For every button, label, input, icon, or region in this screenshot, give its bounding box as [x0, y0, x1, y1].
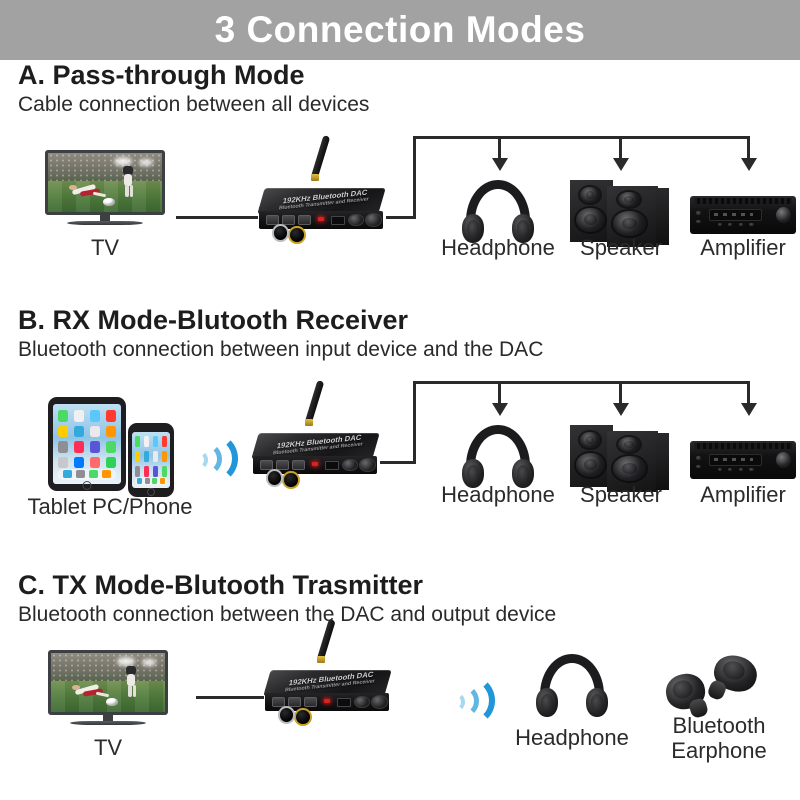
amplifier-button[interactable]: [718, 468, 722, 471]
tablet-home-button[interactable]: [83, 481, 92, 490]
tv-stand-neck: [103, 715, 113, 721]
tv-stand-neck: [100, 215, 110, 221]
amplifier-button[interactable]: [728, 223, 732, 226]
tablet-app-grid: [58, 410, 116, 468]
section-tx-mode: C. TX Mode-Blutooth Trasmitter Bluetooth…: [0, 570, 800, 800]
headphone-earcup-right: [586, 688, 609, 717]
arrow-down-icon: [741, 403, 757, 416]
dac-knob-left[interactable]: [348, 214, 364, 227]
page-title: 3 Connection Modes: [215, 9, 586, 51]
tablet-dock: [58, 469, 116, 480]
section-a-heading: A. Pass-through Mode: [18, 60, 305, 91]
tv-player-sliding: [69, 180, 108, 201]
speaker-tweeter: [580, 432, 600, 449]
output-label-headphone: Headphone: [432, 483, 564, 506]
antenna-base: [317, 656, 325, 663]
earbud-left-ring: [671, 678, 694, 699]
dac-device: 192KHz Bluetooth DAC Bluetooth Transmitt…: [256, 176, 388, 238]
tv-stand-base: [67, 221, 144, 225]
amplifier-volume-knob[interactable]: [776, 452, 791, 468]
cable-drop-headphone: [498, 136, 501, 160]
amplifier-display: [709, 454, 762, 466]
amplifier-button[interactable]: [696, 456, 700, 459]
section-b-heading: B. RX Mode-Blutooth Receiver: [18, 305, 408, 336]
amplifier-volume-knob[interactable]: [776, 207, 791, 223]
dac-knob-right[interactable]: [359, 458, 376, 472]
phone-screen: [132, 432, 170, 488]
cable-drop-headphone: [498, 381, 501, 405]
amplifier-button[interactable]: [696, 211, 700, 214]
amplifier-display: [709, 209, 762, 221]
dac-button-3[interactable]: [298, 215, 311, 226]
section-pass-through-mode: A. Pass-through Mode Cable connection be…: [0, 60, 800, 305]
antenna-base: [305, 419, 313, 426]
cable-bus: [413, 136, 750, 139]
tv-player-standing: [117, 664, 147, 699]
phone-dock: [135, 477, 168, 485]
section-c-diagram: TV 192KHz Bluetooth DAC Bluetooth Transm…: [0, 638, 800, 800]
antenna-base: [311, 174, 319, 181]
speaker-tweeter: [580, 187, 600, 204]
section-b-subheading: Bluetooth connection between input devic…: [18, 338, 543, 362]
speaker-woofer: [576, 453, 605, 478]
amplifier-icon: [690, 441, 796, 479]
headphone-jack-icon[interactable]: [282, 471, 301, 490]
headphone-jack-icon[interactable]: [288, 226, 307, 245]
cable-dac-out: [386, 216, 416, 219]
tv-crowd: [48, 153, 162, 181]
usb-port-icon[interactable]: [325, 461, 339, 470]
cable-riser: [413, 136, 416, 219]
arrow-down-icon: [613, 158, 629, 171]
tv-crowd: [51, 653, 165, 681]
power-led-icon: [318, 217, 324, 222]
usb-port-icon[interactable]: [337, 698, 351, 707]
amplifier-vents: [694, 198, 792, 204]
speaker-woofer: [576, 208, 605, 233]
cable-bus: [413, 381, 750, 384]
output-label-headphone: Headphone: [506, 726, 638, 749]
output-label-bluetooth-earphone: Bluetooth Earphone: [654, 714, 784, 763]
output-label-headphone: Headphone: [432, 236, 564, 259]
volume-dial-icon[interactable]: [272, 224, 289, 242]
dac-button-2[interactable]: [276, 460, 289, 471]
amplifier-button[interactable]: [718, 223, 722, 226]
tv-icon: [45, 150, 165, 235]
cable-riser: [413, 381, 416, 464]
bluetooth-wave-icon: [186, 430, 242, 488]
usb-port-icon[interactable]: [331, 216, 345, 225]
headphone-earcup-left: [536, 688, 559, 717]
section-c-heading: C. TX Mode-Blutooth Trasmitter: [18, 570, 423, 601]
cable-drop-speaker: [619, 381, 622, 405]
amplifier-button[interactable]: [696, 220, 700, 223]
section-a-diagram: TV 192KHz Bluetooth DAC Bluetooth Transm…: [0, 128, 800, 305]
cable-drop-amplifier: [747, 136, 750, 160]
headphone-jack-icon[interactable]: [294, 708, 313, 727]
power-led-icon: [324, 699, 330, 704]
dac-button-3[interactable]: [292, 460, 305, 471]
dac-button-3[interactable]: [304, 697, 317, 708]
arrow-down-icon: [492, 158, 508, 171]
dac-knob-left[interactable]: [354, 696, 370, 709]
earbuds-icon: [664, 650, 772, 720]
dac-knob-left[interactable]: [342, 459, 358, 472]
bluetooth-wave-icon: [443, 672, 499, 730]
cable-drop-amplifier: [747, 381, 750, 405]
input-label-tablet-phone: Tablet PC/Phone: [10, 495, 210, 518]
output-label-amplifier: Amplifier: [686, 236, 800, 259]
input-label-tv: TV: [45, 236, 165, 259]
cable-drop-speaker: [619, 136, 622, 160]
section-rx-mode: B. RX Mode-Blutooth Receiver Bluetooth c…: [0, 305, 800, 570]
tv-player-sliding: [72, 680, 111, 701]
arrow-down-icon: [613, 403, 629, 416]
tablet-icon: [48, 397, 126, 491]
arrow-down-icon: [492, 403, 508, 416]
headphone-icon: [534, 654, 610, 720]
tablet-screen: [53, 404, 121, 484]
amplifier-button[interactable]: [749, 468, 753, 471]
phone-icon: [128, 423, 174, 497]
cable-tv-to-dac: [196, 696, 264, 699]
amplifier-button[interactable]: [739, 223, 743, 226]
dac-device: 192KHz Bluetooth DAC Bluetooth Transmitt…: [250, 421, 382, 483]
dac-button-2[interactable]: [282, 215, 295, 226]
earbud-right-ring: [720, 658, 747, 682]
amplifier-button[interactable]: [728, 468, 732, 471]
dac-device: 192KHz Bluetooth DAC Bluetooth Transmitt…: [262, 658, 394, 720]
dac-knob-right[interactable]: [371, 695, 388, 709]
phone-app-grid: [135, 436, 168, 476]
tv-screen: [45, 150, 165, 215]
volume-dial-icon[interactable]: [278, 706, 295, 724]
tv-stand-base: [70, 721, 147, 725]
tv-screen: [48, 650, 168, 715]
tv-player-standing: [114, 164, 144, 199]
arrow-down-icon: [741, 158, 757, 171]
amplifier-button[interactable]: [739, 468, 743, 471]
cable-tv-to-dac: [176, 216, 258, 219]
output-label-speaker: Speaker: [562, 236, 680, 259]
output-label-speaker: Speaker: [562, 483, 680, 506]
speaker-woofer: [613, 211, 647, 235]
section-a-subheading: Cable connection between all devices: [18, 93, 369, 117]
amplifier-button[interactable]: [696, 465, 700, 468]
tv-icon: [48, 650, 168, 735]
dac-knob-right[interactable]: [365, 213, 382, 227]
dac-button-2[interactable]: [288, 697, 301, 708]
volume-dial-icon[interactable]: [266, 469, 283, 487]
power-led-icon: [312, 462, 318, 467]
speaker-woofer: [613, 456, 647, 480]
amplifier-vents: [694, 443, 792, 449]
section-b-diagram: Tablet PC/Phone 192KHz Bluetooth DAC Blu…: [0, 375, 800, 570]
output-label-amplifier: Amplifier: [686, 483, 800, 506]
input-label-tv: TV: [48, 736, 168, 759]
page-banner: 3 Connection Modes: [0, 0, 800, 60]
cable-dac-out: [380, 461, 416, 464]
section-c-subheading: Bluetooth connection between the DAC and…: [18, 603, 556, 627]
amplifier-button[interactable]: [749, 223, 753, 226]
amplifier-icon: [690, 196, 796, 234]
